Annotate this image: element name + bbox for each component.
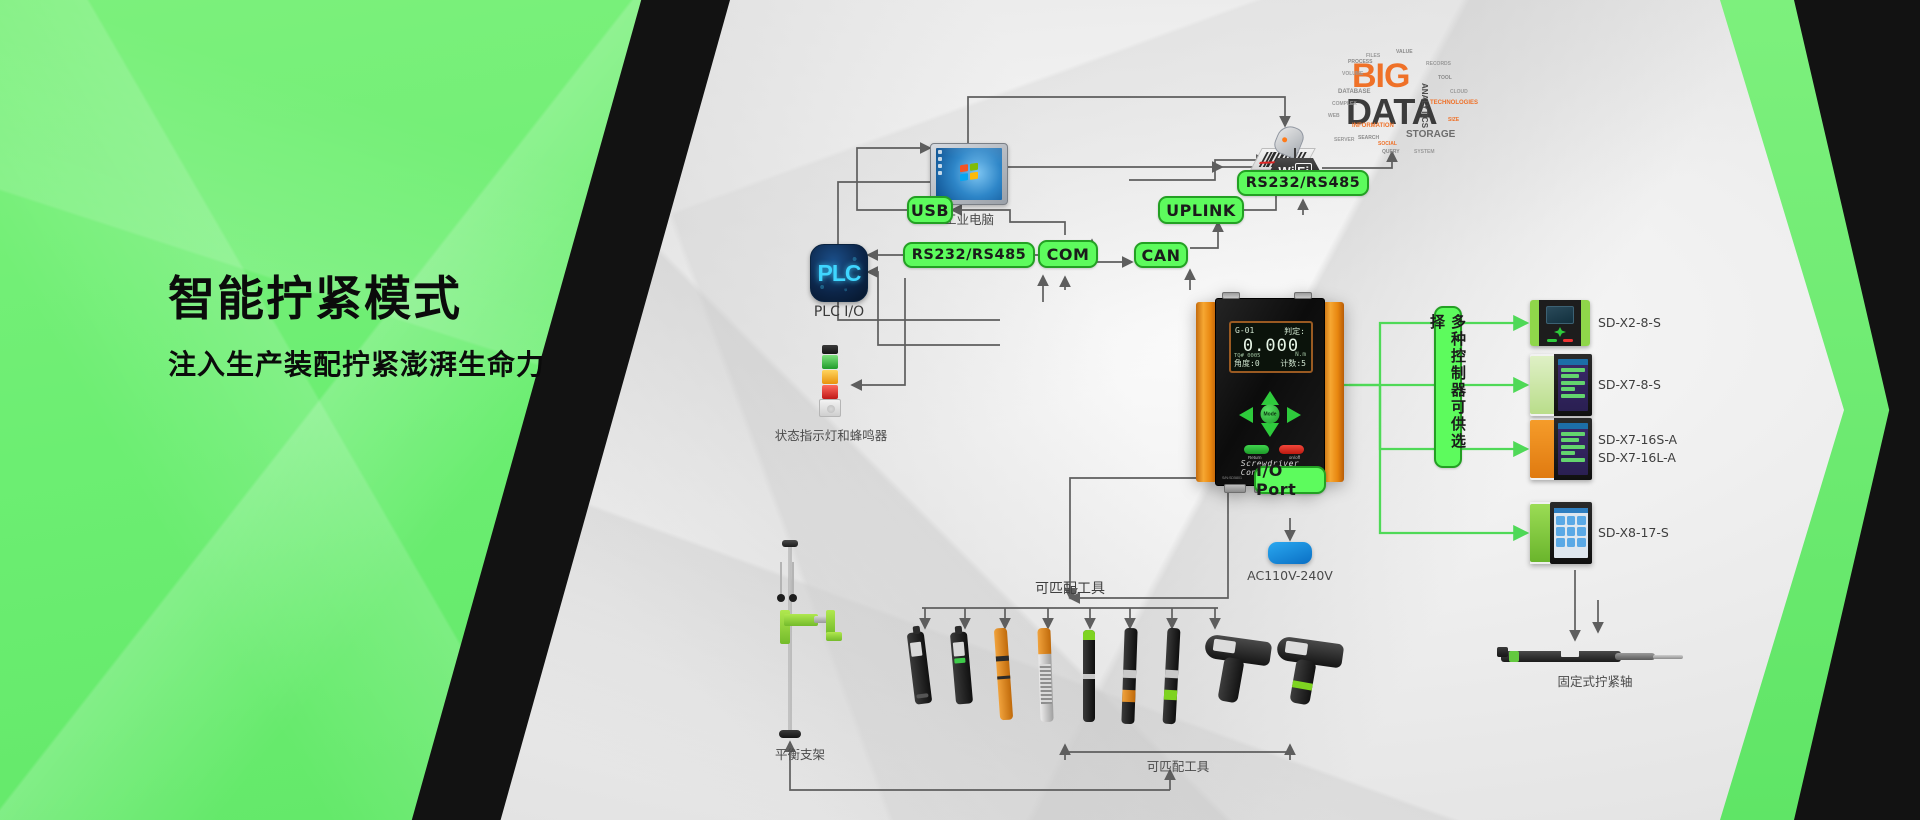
node-controller-sd-x7-16[interactable]: SD-X7-16S-A SD-X7-16L-A [1530,418,1592,480]
fixed-spindle-icon [1495,645,1685,667]
tools-group-top-label: 可匹配工具 [1035,578,1105,598]
node-compatible-tools[interactable] [905,626,1245,736]
sd-x7-16l-a-label: SD-X7-16L-A [1598,449,1677,467]
pill-rs232-rs485-left[interactable]: RS232/RS485 [903,242,1035,268]
mode-button[interactable]: Mode [1261,405,1280,424]
sd-x7-16-label: SD-X7-16S-A SD-X7-16L-A [1598,431,1677,467]
node-controller-sd-x7-8-s[interactable]: SD-X7-8-S [1530,354,1592,416]
plc-icon: PLC [810,244,868,302]
controller-options-label: 多种控制器可供选择 [1434,306,1462,468]
windows-logo-icon [960,163,978,182]
pill-usb[interactable]: USB [907,196,953,224]
sd-x8-17-s-icon [1530,502,1592,564]
ac-adapter-label: AC110V-240V [1247,568,1333,583]
lcd-program-id: G-01 [1235,326,1254,335]
node-ac-adapter[interactable]: AC110V-240V [1268,542,1312,564]
desktop-icons [938,150,942,175]
balance-arm-label: 平衡支架 [775,744,825,763]
balance-arm-icon [760,540,820,740]
banner-stage: 智能拧紧模式 注入生产装配拧紧澎湃生命力 [0,0,1920,820]
pill-com[interactable]: COM [1038,240,1098,268]
node-controller-sd-x2-8-s[interactable]: SD-X2-8-S [1530,300,1590,346]
page-title: 智能拧紧模式 [168,270,688,329]
sd-x2-8-s-label: SD-X2-8-S [1598,314,1661,332]
lcd-angle: 角度:0 [1234,358,1260,369]
controller-serial-left: S/N:SD5801 [1222,476,1242,480]
controller-dpad[interactable]: Mode [1239,391,1301,437]
dpad-down-button[interactable] [1261,423,1279,437]
sd-x7-16s-a-label: SD-X7-16S-A [1598,431,1677,449]
fixed-spindle-label: 固定式拧紧轴 [1557,671,1632,690]
power-adapter-icon [1268,542,1312,564]
pill-can[interactable]: CAN [1134,242,1188,268]
controller-top-port-left [1222,292,1240,299]
plc-label: PLC I/O [814,304,864,320]
page-subtitle: 注入生产装配拧紧澎湃生命力 [168,343,688,383]
tools-group-bottom-label: 可匹配工具 [1147,756,1210,775]
controller-rail-right [1323,302,1344,482]
pill-io-port[interactable]: I/O Port [1254,466,1326,494]
hero-text-block: 智能拧紧模式 注入生产装配拧紧澎湃生命力 [168,270,688,383]
return-button[interactable] [1244,445,1269,454]
sd-x2-8-s-icon [1530,300,1590,346]
pill-uplink[interactable]: UPLINK [1158,196,1244,224]
status-light-label: 状态指示灯和蜂鸣器 [775,425,888,444]
node-main-controller[interactable]: G-01 判定: 0.000 TQ# 0005 N.m 角度:0 计数:5 Mo… [1196,298,1344,486]
dpad-up-button[interactable] [1261,391,1279,405]
big-data-cloud-icon: BIG DATA ANALYTICS STORAGE TECHNOLOGIES … [1318,45,1488,165]
node-fixed-spindle[interactable]: 固定式拧紧轴 [1495,645,1695,667]
controller-lcd-display: G-01 判定: 0.000 TQ# 0005 N.m 角度:0 计数:5 [1229,321,1313,373]
power-button[interactable] [1279,445,1304,454]
node-controller-sd-x8-17-s[interactable]: SD-X8-17-S [1530,502,1592,564]
lcd-count: 计数:5 [1280,358,1306,369]
node-big-data: BIG DATA ANALYTICS STORAGE TECHNOLOGIES … [1318,45,1488,165]
node-balance-arm[interactable]: 平衡支架 [760,540,820,740]
dpad-left-button[interactable] [1239,407,1253,423]
plc-tile-text: PLC [818,260,861,287]
sd-x7-16s-a-icon [1530,418,1592,480]
controller-top-port-right [1294,292,1312,299]
node-plc[interactable]: PLC PLC I/O [810,244,868,302]
sd-x7-8-s-icon [1530,354,1592,416]
node-status-light[interactable]: 状态指示灯和蜂鸣器 [820,345,842,403]
lcd-unit-nm: N.m [1295,351,1306,358]
dpad-right-button[interactable] [1287,407,1301,423]
controller-rail-left [1196,302,1217,482]
stack-light-icon [820,345,840,403]
pill-rs232-rs485-top[interactable]: RS232/RS485 [1237,170,1369,196]
controller-port-power [1224,484,1246,493]
electric-screwdriver-icon [905,626,1245,736]
sd-x8-17-s-label: SD-X8-17-S [1598,524,1669,542]
sd-x7-8-s-label: SD-X7-8-S [1598,376,1661,394]
